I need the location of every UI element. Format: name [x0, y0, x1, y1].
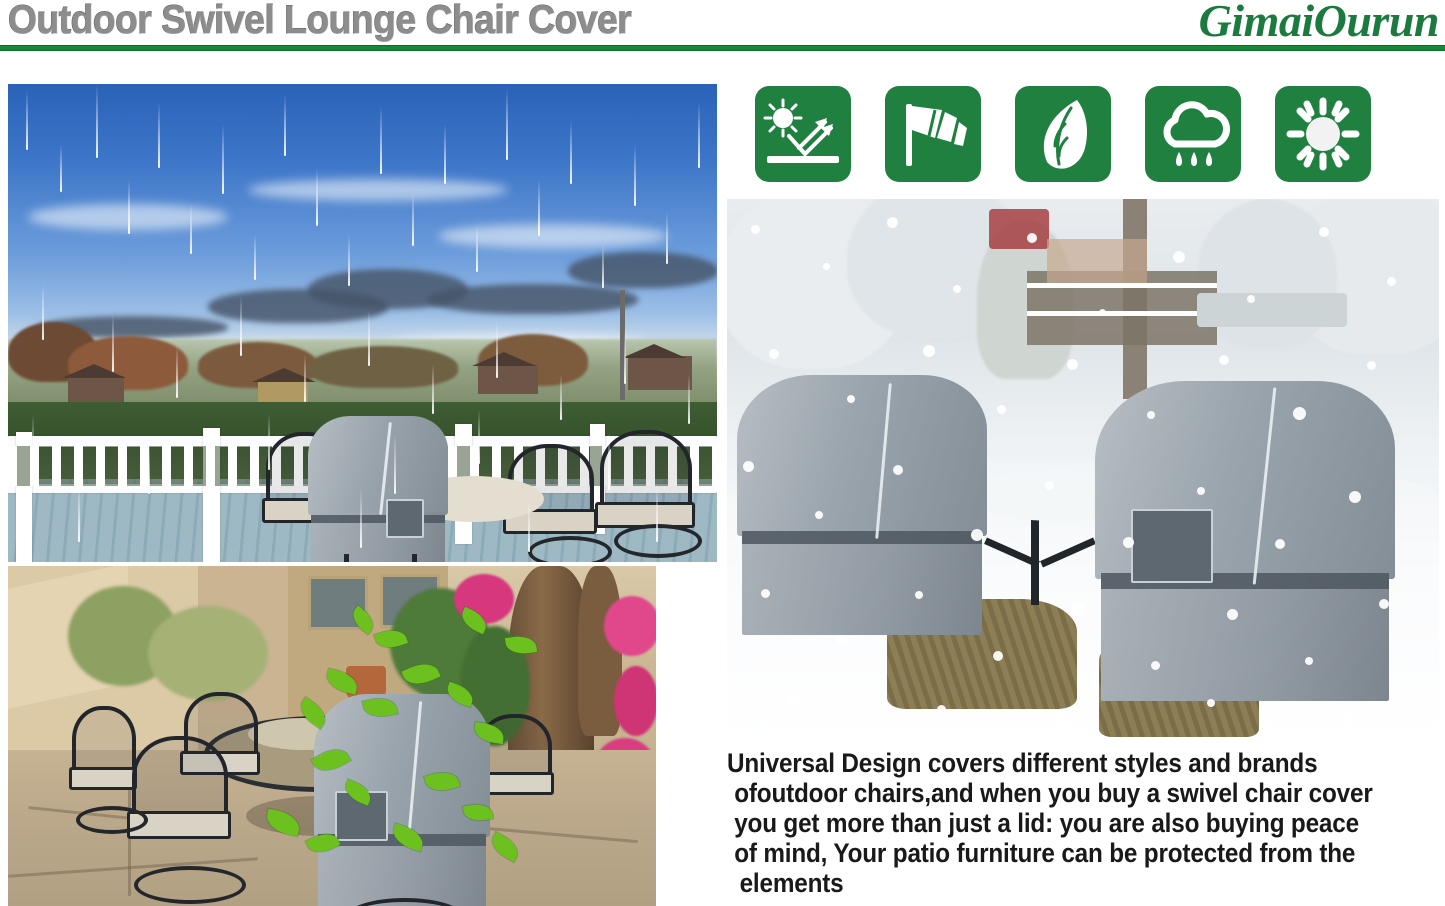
- rain-deck-photo: [8, 84, 717, 562]
- leaf-debris-icon: [1015, 86, 1111, 182]
- patio-chair: [72, 706, 128, 816]
- page-title: Outdoor Swivel Lounge Chair Cover: [8, 0, 631, 43]
- chair-cover-product: [314, 694, 490, 906]
- description-line: of mind, Your patio furniture can be pro…: [727, 838, 1373, 868]
- patio-leaves-photo: [8, 566, 656, 906]
- page-header: Outdoor Swivel Lounge Chair Cover GimaiO…: [0, 0, 1445, 52]
- chair-cover-product: [308, 416, 448, 562]
- chair-cover-product: [1095, 381, 1395, 701]
- patio-chair: [132, 736, 220, 872]
- description-line: ofoutdoor chairs,and when you buy a swiv…: [727, 778, 1373, 808]
- feature-icon-strip: [755, 86, 1395, 186]
- sun-proof-icon: [1275, 86, 1371, 182]
- product-description: Universal Design covers different styles…: [727, 748, 1445, 898]
- wind-resistant-icon: [885, 86, 981, 182]
- description-line: Universal Design covers different styles…: [727, 748, 1373, 778]
- description-line: elements: [727, 868, 1373, 898]
- uv-protection-icon: [755, 86, 851, 182]
- description-line: you get more than just a lid: you are al…: [727, 808, 1373, 838]
- header-divider: [0, 45, 1445, 51]
- rain-proof-icon: [1145, 86, 1241, 182]
- brand-logo: GimaiOurun: [1199, 0, 1439, 47]
- snow-chairs-photo: [727, 199, 1439, 740]
- chair-cover-product: [737, 375, 987, 635]
